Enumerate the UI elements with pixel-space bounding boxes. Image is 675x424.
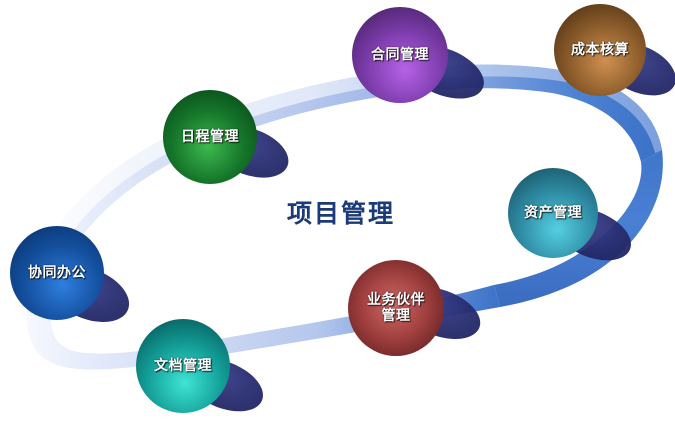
node-label: 业务伙伴 管理: [367, 292, 425, 323]
node-sphere[interactable]: 资产管理: [508, 168, 598, 258]
node-sphere[interactable]: 文档管理: [136, 319, 230, 413]
node-sphere[interactable]: 成本核算: [554, 4, 646, 96]
node-label: 协同办公: [28, 265, 86, 281]
node-label: 日程管理: [181, 129, 239, 145]
node-label: 文档管理: [154, 358, 212, 374]
node-sphere[interactable]: 协同办公: [10, 226, 104, 320]
node-label: 合同管理: [371, 47, 429, 63]
node-sphere[interactable]: 业务伙伴 管理: [348, 260, 444, 356]
node-label: 资产管理: [524, 205, 582, 221]
node-sphere[interactable]: 合同管理: [352, 7, 448, 103]
node-label: 成本核算: [571, 42, 629, 58]
center-title: 项目管理: [287, 194, 395, 230]
diagram-canvas: 协同办公 日程管理 合同管理 成本核算 资产管理 业务伙伴 管理: [0, 0, 675, 424]
node-sphere[interactable]: 日程管理: [163, 90, 257, 184]
